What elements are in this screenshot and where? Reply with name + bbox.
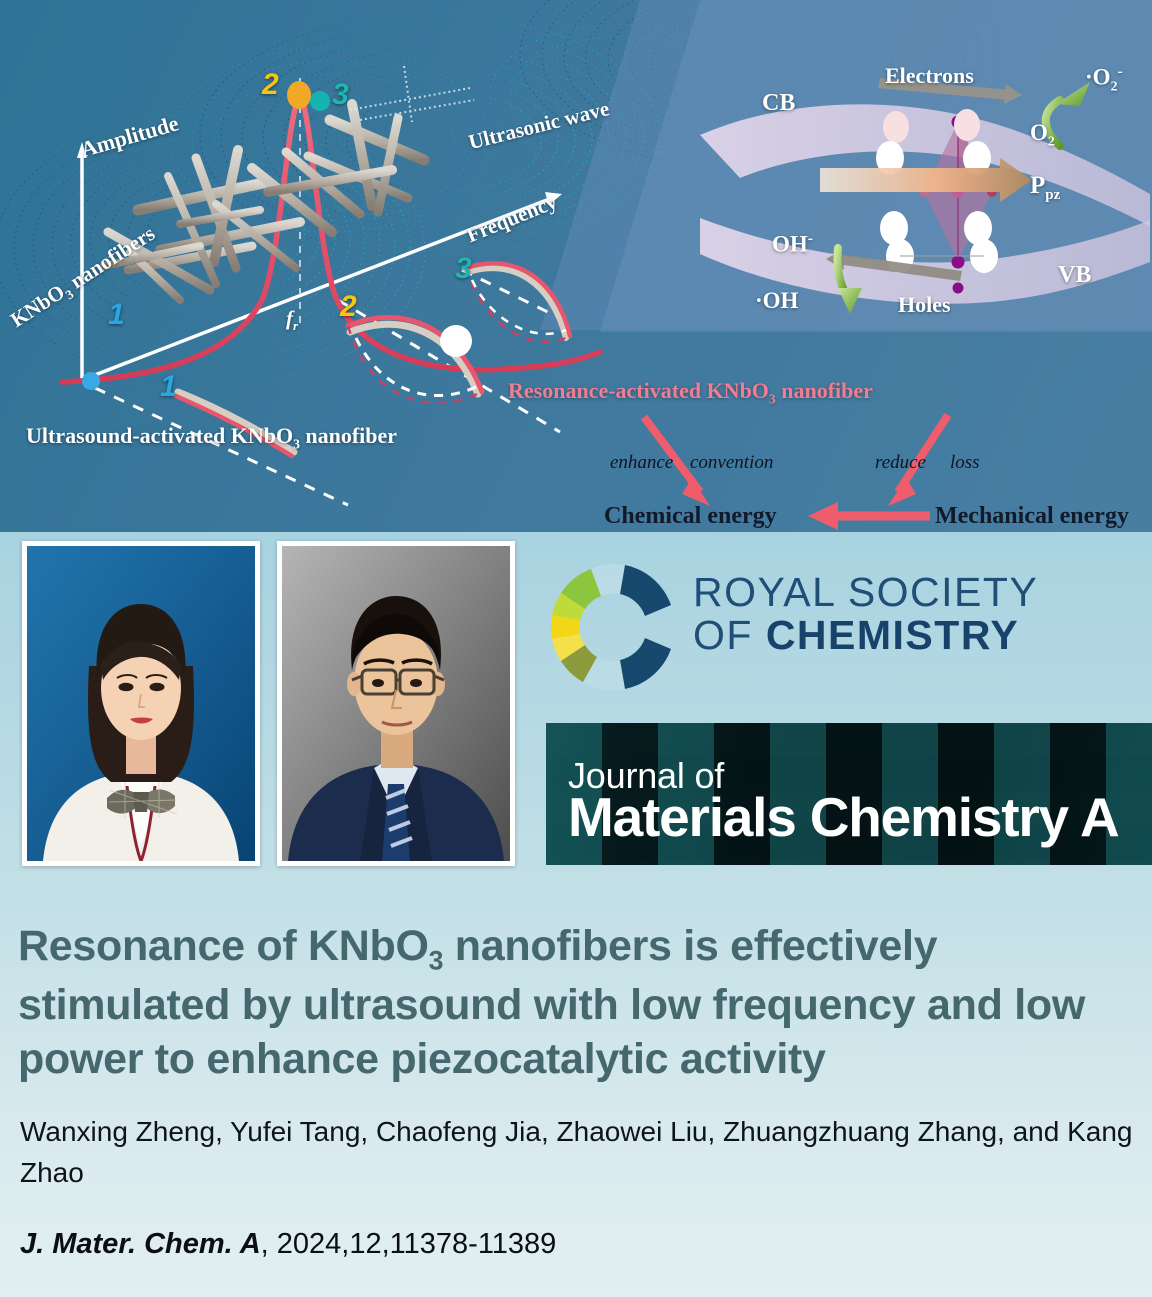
mechanical-energy-label: Mechanical energy (935, 503, 1129, 530)
ra-sub: 3 (769, 391, 776, 406)
marker-1-inset: 1 (160, 370, 177, 404)
resonance-frequency-label: fr (286, 306, 298, 334)
usa-sub: 3 (293, 436, 300, 451)
rsc-logo: ROYAL SOCIETY OF CHEMISTRY (543, 553, 1143, 703)
hydroxyl-radical-label: ·OH (755, 288, 798, 314)
oh-sup: - (808, 230, 813, 247)
fr-sub: r (293, 318, 298, 333)
oh-base: OH (772, 232, 808, 257)
usa-tail: nanofiber (300, 423, 397, 448)
electrons-label: Electrons (885, 63, 974, 89)
vb-label: VB (1058, 262, 1091, 289)
loss-label: loss (950, 452, 980, 474)
marker-3-inset: 3 (455, 252, 472, 286)
ra-tail: nanofiber (776, 378, 873, 403)
rsc-line-2: OF CHEMISTRY (693, 614, 1038, 657)
rsc-c-mark (543, 557, 683, 697)
fr-base: f (286, 306, 293, 330)
title-part-1: Resonance of KNbO (18, 922, 429, 970)
marker-3-curve: 3 (332, 78, 349, 112)
convention-label: convention (690, 452, 773, 474)
cb-label: CB (762, 90, 795, 117)
holes-label: Holes (898, 292, 951, 318)
title-subscript: 3 (429, 945, 444, 975)
ultrasound-activated-label: Ultrasound-activated KNbO3 nanofiber (26, 423, 397, 452)
superoxide-label: ·O2- (1085, 63, 1123, 94)
marker-1-curve: 1 (108, 298, 125, 332)
journal-banner: Journal of Materials Chemistry A (546, 723, 1152, 865)
o2-base: O (1030, 120, 1048, 145)
oxygen-label: O2 (1030, 120, 1055, 150)
rsc-chemistry: CHEMISTRY (766, 612, 1019, 658)
o2-sub: 2 (1048, 134, 1055, 149)
citation-journal: J. Mater. Chem. A (20, 1228, 261, 1260)
resonance-activated-label: Resonance-activated KNbO3 nanofiber (508, 378, 873, 407)
graphical-abstract: Amplitude Frequency fr Ultrasonic wave K… (0, 0, 1152, 532)
ppz-base: P (1030, 172, 1045, 199)
polarization-label: Ppz (1030, 172, 1060, 204)
author-portrait-2 (277, 541, 515, 866)
article-toc-card: Amplitude Frequency fr Ultrasonic wave K… (0, 0, 1152, 1297)
marker-2-curve: 2 (262, 68, 279, 102)
chemical-energy-label: Chemical energy (604, 503, 777, 530)
rsc-line-1: ROYAL SOCIETY (693, 571, 1038, 614)
citation-details: , 2024,12,11378-11389 (261, 1228, 557, 1260)
ppz-sub: pz (1045, 187, 1060, 203)
so-sub: 2 (1111, 78, 1118, 93)
so-base: ·O (1085, 65, 1111, 90)
journal-line-2: Materials Chemistry A (568, 785, 1118, 849)
article-title: Resonance of KNbO3 nanofibers is effecti… (18, 919, 1143, 1086)
rsc-wordmark: ROYAL SOCIETY OF CHEMISTRY (693, 571, 1038, 658)
hydroxide-label: OH- (772, 230, 813, 258)
author-list: Wanxing Zheng, Yufei Tang, Chaofeng Jia,… (20, 1112, 1140, 1193)
enhance-label: enhance (610, 452, 673, 474)
rsc-of: OF (693, 612, 766, 658)
usa-base: Ultrasound-activated KNbO (26, 423, 293, 448)
author-portrait-1 (22, 541, 260, 866)
marker-2-inset: 2 (340, 290, 357, 324)
reduce-label: reduce (875, 452, 926, 474)
ra-base: Resonance-activated KNbO (508, 378, 769, 403)
so-sup: - (1117, 63, 1122, 80)
citation: J. Mater. Chem. A, 2024,12,11378-11389 (20, 1228, 556, 1261)
